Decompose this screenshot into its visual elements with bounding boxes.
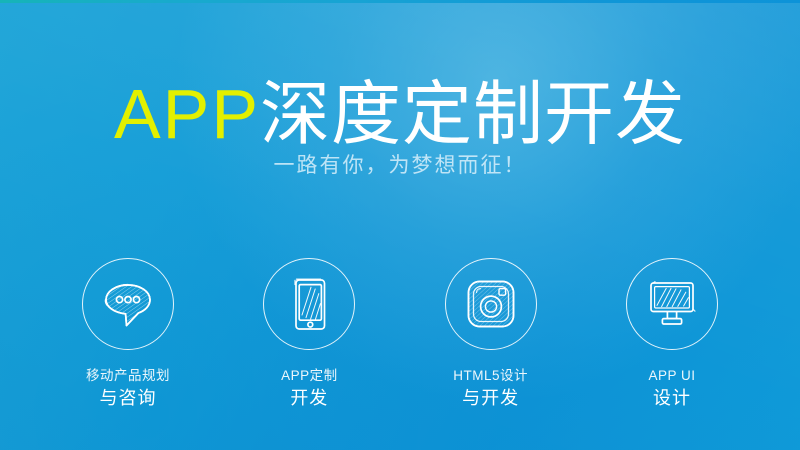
subtitle: 一路有你，为梦想而征！ [0, 149, 800, 179]
feature-caption-line1: HTML5设计 [453, 367, 528, 385]
feature-item-app-development[interactable]: APP定制 开发 [233, 258, 385, 411]
feature-caption: APP定制 开发 [281, 367, 338, 411]
feature-caption: APP UI 设计 [648, 367, 695, 411]
camera-icon [463, 276, 519, 332]
promo-banner: APP深度定制开发 一路有你，为梦想而征！ [0, 0, 800, 450]
feature-caption-line1: APP UI [648, 367, 695, 385]
headline-main: 深度定制开发 [260, 75, 686, 153]
speech-bubble-icon [99, 278, 157, 330]
tablet-device-icon [287, 275, 331, 333]
feature-caption-line1: 移动产品规划 [86, 367, 170, 385]
feature-caption-line2: 开发 [281, 386, 338, 411]
feature-icon-circle [445, 258, 537, 350]
feature-icon-circle [263, 258, 355, 350]
feature-icon-circle [82, 258, 174, 350]
feature-list: 移动产品规划 与咨询 [0, 258, 800, 411]
feature-caption: HTML5设计 与开发 [453, 367, 528, 411]
top-accent-strip [0, 0, 800, 3]
desktop-monitor-icon [643, 278, 701, 330]
feature-caption-line1: APP定制 [281, 367, 338, 385]
feature-item-html5[interactable]: HTML5设计 与开发 [415, 258, 567, 411]
feature-caption-line2: 与开发 [453, 386, 528, 411]
feature-item-ui-design[interactable]: APP UI 设计 [596, 258, 748, 411]
feature-icon-circle [626, 258, 718, 350]
page-title: APP深度定制开发 [0, 79, 800, 149]
feature-caption-line2: 设计 [648, 386, 695, 411]
feature-item-consulting[interactable]: 移动产品规划 与咨询 [52, 258, 204, 411]
headline-accent: APP [114, 75, 260, 153]
feature-caption-line2: 与咨询 [86, 386, 170, 411]
feature-caption: 移动产品规划 与咨询 [86, 367, 170, 411]
